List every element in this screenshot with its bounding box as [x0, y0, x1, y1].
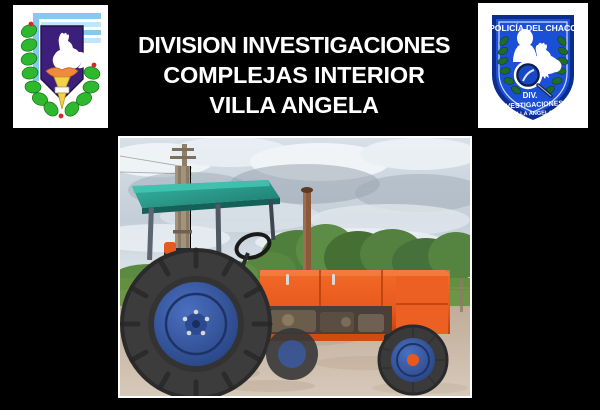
page-title: DIVISION INVESTIGACIONES COMPLEJAS INTER…: [108, 30, 480, 120]
hood-latch: [332, 274, 335, 285]
title-line-1: DIVISION INVESTIGACIONES: [108, 30, 480, 60]
police-badge-icon: POLICÍA DEL CHACO: [478, 3, 588, 128]
photo-frame: [118, 136, 472, 398]
torch-handle: [55, 87, 69, 93]
laurel-berry: [92, 63, 97, 68]
laurel-berry: [59, 114, 64, 119]
chaco-province-coat-of-arms-emblem: [13, 5, 108, 128]
hood-latch: [286, 274, 289, 285]
tractor-photo: [120, 138, 470, 396]
front-hub-cap: [407, 354, 419, 366]
badge-top-text: POLICÍA DEL CHACO: [489, 23, 577, 33]
tractor-photo-image: [120, 138, 470, 396]
presentation-slide: DIVISION INVESTIGACIONES COMPLEJAS INTER…: [0, 0, 600, 410]
rear-wheel: [122, 250, 270, 396]
policia-del-chaco-badge-emblem: POLICÍA DEL CHACO: [478, 3, 588, 128]
chaco-coat-of-arms-icon: [13, 5, 108, 128]
front-wheel: [379, 326, 447, 394]
badge-text-div: DIV.: [523, 91, 538, 100]
title-line-2: COMPLEJAS INTERIOR: [108, 60, 480, 90]
title-line-3: VILLA ANGELA: [108, 90, 480, 120]
mid-wheel: [266, 328, 318, 380]
laurel-berry: [29, 22, 34, 27]
